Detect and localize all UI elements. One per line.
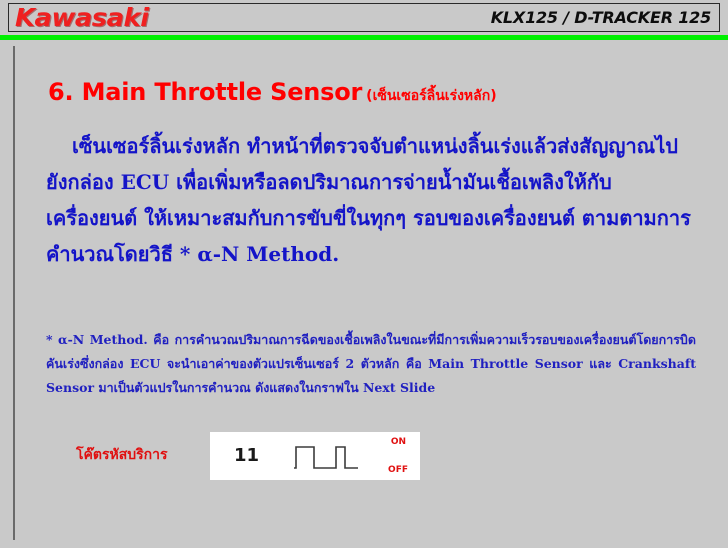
model-name-label: KLX125 / D-TRACKER 125 bbox=[491, 4, 711, 32]
footnote-paragraph: * α-N Method. คือ การคำนวณปริมาณการฉีดขอ… bbox=[46, 328, 696, 400]
page-title: 6. Main Throttle Sensor(เซ็นเซอร์ลิ้นเร่… bbox=[48, 78, 497, 107]
header-bar: Kawasaki KLX125 / D-TRACKER 125 bbox=[8, 3, 720, 32]
slide-canvas: Kawasaki KLX125 / D-TRACKER 125 6. Main … bbox=[0, 0, 728, 548]
body-paragraph: เซ็นเซอร์ลิ้นเร่งหลัก ทำหน้าที่ตรวจจับตำ… bbox=[46, 128, 694, 272]
service-code-box: 11 ON OFF bbox=[210, 432, 420, 480]
square-wave-icon bbox=[292, 442, 372, 472]
page-title-thai: (เซ็นเซอร์ลิ้นเร่งหลัก) bbox=[366, 88, 496, 104]
page-title-main: 6. Main Throttle Sensor bbox=[48, 78, 362, 106]
waveform-on-label: ON bbox=[391, 437, 406, 447]
service-code-label: โค๊ตรหัสบริการ bbox=[76, 444, 168, 466]
slide-header: Kawasaki KLX125 / D-TRACKER 125 bbox=[0, 0, 728, 40]
waveform-off-label: OFF bbox=[388, 465, 408, 475]
service-code-number: 11 bbox=[234, 445, 259, 466]
service-code-row: โค๊ตรหัสบริการ 11 ON OFF bbox=[76, 432, 676, 484]
kawasaki-logo: Kawasaki bbox=[15, 3, 148, 32]
